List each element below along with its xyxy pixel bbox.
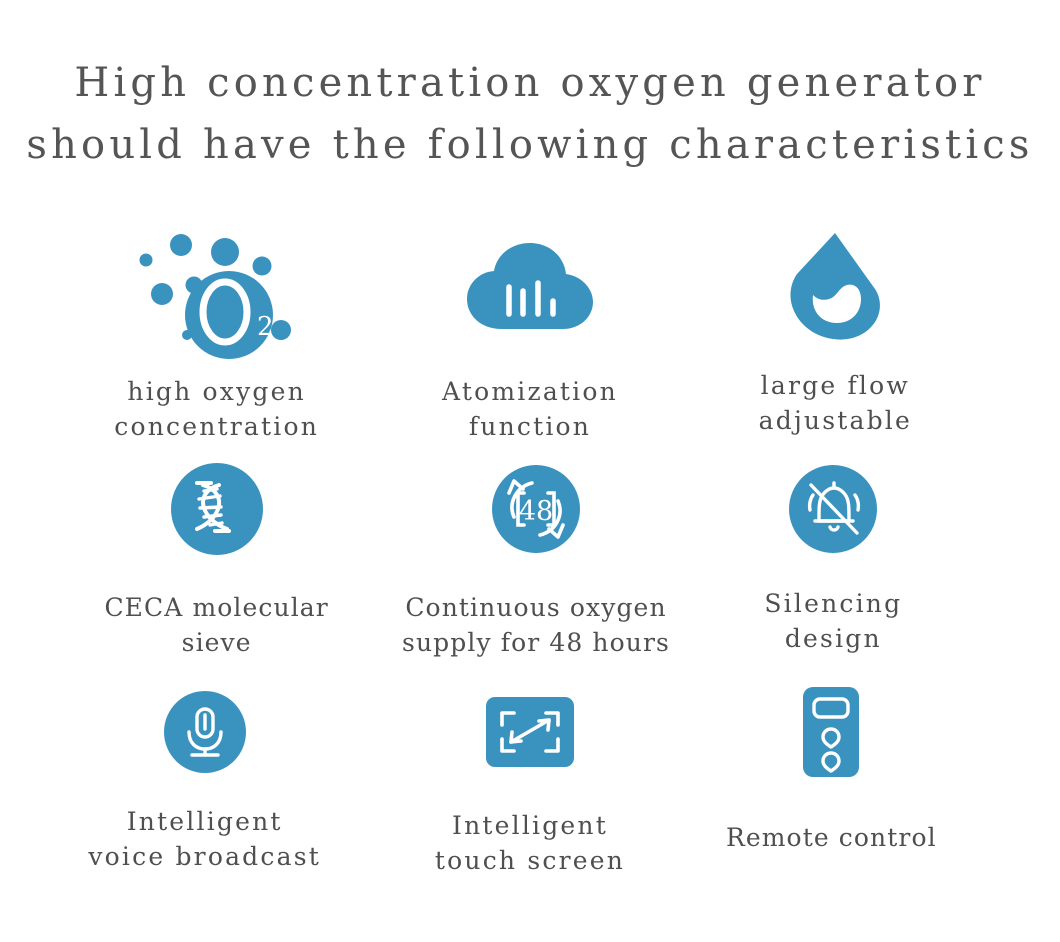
feature-label-line-1: Continuous oxygen [402,590,670,625]
feature-label-line-2: adjustable [759,403,912,438]
feature-label: Remote control [726,820,937,855]
feature-label: Intelligent voice broadcast [88,804,321,874]
feature-item-voice-broadcast: Intelligent voice broadcast [48,678,361,888]
touch-screen-expand-icon [486,678,574,786]
feature-label-line-2: concentration [114,409,319,444]
feature-label-line-1: Remote control [726,820,937,855]
feature-item-touch-screen: Intelligent touch screen [373,678,686,888]
dna-helix-icon [171,450,263,568]
feature-label-line-2: design [764,621,902,656]
water-droplet-icon [787,222,883,352]
feature-label: Silencing design [764,586,902,656]
feature-label: CECA molecular sieve [104,590,328,660]
remote-control-icon [803,678,859,786]
feature-label-line-1: Intelligent [435,808,625,843]
feature-item-large-flow-adjustable: large flow adjustable [679,222,992,450]
feature-label-line-1: CECA molecular [104,590,328,625]
feature-label-line-1: large flow [759,368,912,403]
feature-item-continuous-supply-48h: 48 Continuous oxygen supply for 48 hours [379,450,692,678]
feature-item-high-oxygen-concentration: 2 high oxygen concentration [60,222,373,450]
continuous-cycle-48-icon: 48 [492,450,580,568]
oxygen-bubbles-icon: 2 [129,222,304,356]
feature-item-remote-control: Remote control [675,678,988,888]
feature-label: Intelligent touch screen [435,808,625,878]
feature-label-line-1: high oxygen [114,374,319,409]
feature-label: large flow adjustable [759,368,912,438]
feature-label-line-2: voice broadcast [88,839,321,874]
title-line-1: High concentration oxygen generator [0,52,1060,114]
feature-label: high oxygen concentration [114,374,319,444]
feature-label-line-2: function [442,409,618,444]
feature-item-silencing-design: Silencing design [677,450,990,678]
cloud-mist-icon [464,222,596,352]
bell-muted-icon [789,450,877,568]
feature-label: Continuous oxygen supply for 48 hours [402,590,670,660]
feature-item-atomization-function: Atomization function [373,222,686,450]
feature-label-line-1: Intelligent [88,804,321,839]
microphone-icon [164,678,246,786]
cycle-hours-label: 48 [519,496,553,527]
feature-grid: 2 high oxygen concentration Atomization … [0,222,1060,888]
feature-label-line-1: Silencing [764,586,902,621]
feature-label-line-2: supply for 48 hours [402,625,670,660]
oxygen-subscript-label: 2 [257,312,274,342]
page-title: High concentration oxygen generator shou… [0,0,1060,176]
feature-item-ceca-molecular-sieve: CECA molecular sieve [60,450,373,678]
feature-label-line-1: Atomization [442,374,618,409]
feature-label-line-2: sieve [104,625,328,660]
feature-label: Atomization function [442,374,618,444]
feature-label-line-2: touch screen [435,843,625,878]
title-line-2: should have the following characteristic… [0,114,1060,176]
